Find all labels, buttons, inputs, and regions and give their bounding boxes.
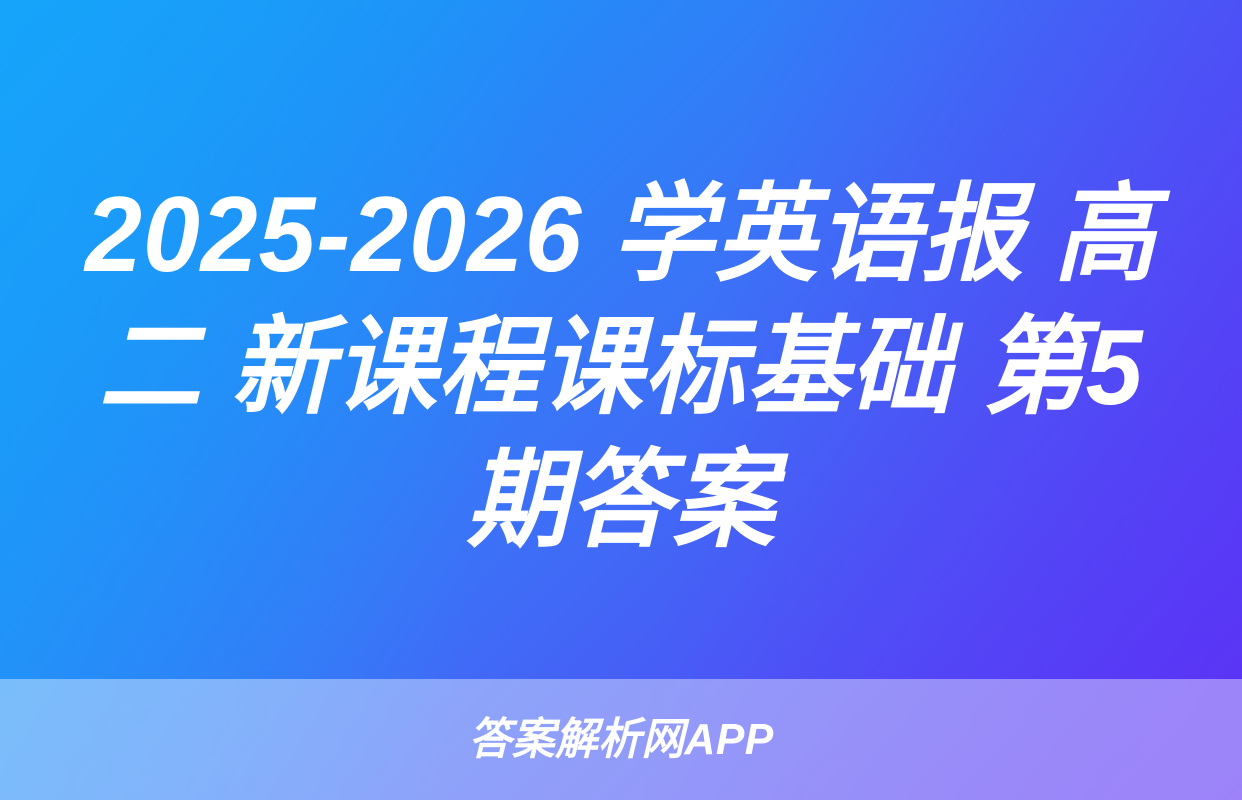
page-title: 2025-2026 学英语报 高 二 新课程课标基础 第5 期答案 bbox=[0, 168, 1242, 567]
title-line-2: 二 新课程课标基础 第5 bbox=[68, 301, 1174, 434]
answer-cover-card: 2025-2026 学英语报 高 二 新课程课标基础 第5 期答案 答案解析网A… bbox=[0, 0, 1242, 800]
footer-brand-label: 答案解析网APP bbox=[468, 715, 773, 765]
title-line-1: 2025-2026 学英语报 高 bbox=[68, 168, 1174, 301]
footer-brand-band: 答案解析网APP bbox=[0, 679, 1242, 800]
title-line-3: 期答案 bbox=[68, 434, 1174, 567]
